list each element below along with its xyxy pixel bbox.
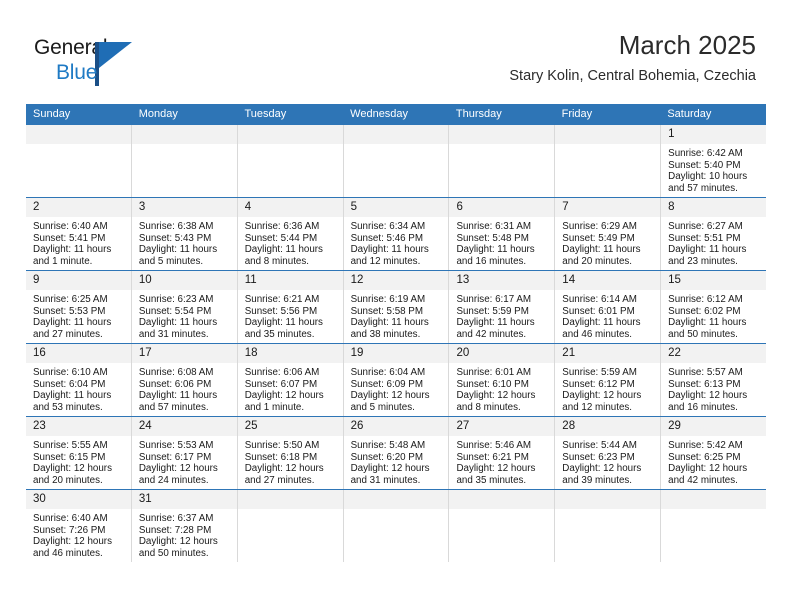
day-number: 27 bbox=[449, 417, 554, 436]
day-detail-line: and 24 minutes. bbox=[139, 475, 232, 487]
day-detail-line: and 35 minutes. bbox=[245, 329, 338, 341]
day-details: Sunrise: 6:29 AMSunset: 5:49 PMDaylight:… bbox=[555, 217, 660, 267]
day-details: Sunrise: 6:14 AMSunset: 6:01 PMDaylight:… bbox=[555, 290, 660, 340]
day-detail-line: Daylight: 11 hours bbox=[139, 390, 232, 402]
week-cells: 1Sunrise: 6:42 AMSunset: 5:40 PMDaylight… bbox=[26, 125, 766, 197]
day-number: 9 bbox=[26, 271, 131, 290]
day-detail-line: Sunrise: 6:40 AM bbox=[33, 513, 126, 525]
day-detail-line: Sunset: 5:56 PM bbox=[245, 306, 338, 318]
day-detail-line: and 35 minutes. bbox=[456, 475, 549, 487]
day-details bbox=[449, 509, 554, 513]
day-detail-line: and 42 minutes. bbox=[668, 475, 761, 487]
brand-name-blue: Blue bbox=[56, 61, 97, 85]
day-detail-line: and 23 minutes. bbox=[668, 256, 761, 268]
day-number-strip bbox=[449, 125, 554, 144]
day-detail-line: Sunset: 5:53 PM bbox=[33, 306, 126, 318]
day-detail-line: Daylight: 11 hours bbox=[456, 244, 549, 256]
day-detail-line: Sunset: 5:59 PM bbox=[456, 306, 549, 318]
day-detail-line: Sunrise: 6:17 AM bbox=[456, 294, 549, 306]
day-cell-empty bbox=[343, 125, 449, 197]
day-detail-line: and 46 minutes. bbox=[33, 548, 126, 560]
day-cell-empty bbox=[660, 490, 766, 562]
day-cell[interactable]: 29Sunrise: 5:42 AMSunset: 6:25 PMDayligh… bbox=[660, 417, 766, 489]
day-detail-line: Daylight: 11 hours bbox=[245, 244, 338, 256]
day-cell[interactable]: 27Sunrise: 5:46 AMSunset: 6:21 PMDayligh… bbox=[448, 417, 554, 489]
day-details: Sunrise: 6:21 AMSunset: 5:56 PMDaylight:… bbox=[238, 290, 343, 340]
day-details: Sunrise: 6:12 AMSunset: 6:02 PMDaylight:… bbox=[661, 290, 766, 340]
day-detail-line: and 31 minutes. bbox=[139, 329, 232, 341]
day-details: Sunrise: 5:55 AMSunset: 6:15 PMDaylight:… bbox=[26, 436, 131, 486]
day-number-strip: 18 bbox=[238, 344, 343, 363]
weekday-header-wednesday: Wednesday bbox=[343, 104, 449, 125]
day-detail-line: and 16 minutes. bbox=[668, 402, 761, 414]
day-detail-line: and 31 minutes. bbox=[351, 475, 444, 487]
day-detail-line: Daylight: 11 hours bbox=[351, 244, 444, 256]
calendar-week-row: 2Sunrise: 6:40 AMSunset: 5:41 PMDaylight… bbox=[26, 197, 766, 270]
day-number-strip: 12 bbox=[344, 271, 449, 290]
day-number-strip bbox=[238, 490, 343, 509]
day-number: 15 bbox=[661, 271, 766, 290]
page-subtitle: Stary Kolin, Central Bohemia, Czechia bbox=[509, 68, 756, 85]
day-detail-line: Sunrise: 6:23 AM bbox=[139, 294, 232, 306]
day-detail-line: Sunset: 6:07 PM bbox=[245, 379, 338, 391]
day-detail-line: Sunrise: 6:21 AM bbox=[245, 294, 338, 306]
day-detail-line: and 50 minutes. bbox=[139, 548, 232, 560]
day-detail-line: Sunset: 5:41 PM bbox=[33, 233, 126, 245]
day-cell[interactable]: 19Sunrise: 6:04 AMSunset: 6:09 PMDayligh… bbox=[343, 344, 449, 416]
day-details: Sunrise: 6:06 AMSunset: 6:07 PMDaylight:… bbox=[238, 363, 343, 413]
calendar-week-row: 1Sunrise: 6:42 AMSunset: 5:40 PMDaylight… bbox=[26, 125, 766, 197]
day-number-strip: 30 bbox=[26, 490, 131, 509]
day-cell[interactable]: 25Sunrise: 5:50 AMSunset: 6:18 PMDayligh… bbox=[237, 417, 343, 489]
day-cell[interactable]: 13Sunrise: 6:17 AMSunset: 5:59 PMDayligh… bbox=[448, 271, 554, 343]
day-number: 12 bbox=[344, 271, 449, 290]
day-details: Sunrise: 6:04 AMSunset: 6:09 PMDaylight:… bbox=[344, 363, 449, 413]
day-details: Sunrise: 6:36 AMSunset: 5:44 PMDaylight:… bbox=[238, 217, 343, 267]
day-details: Sunrise: 6:19 AMSunset: 5:58 PMDaylight:… bbox=[344, 290, 449, 340]
day-number: 4 bbox=[238, 198, 343, 217]
weekday-header-sunday: Sunday bbox=[26, 104, 132, 125]
day-cell[interactable]: 1Sunrise: 6:42 AMSunset: 5:40 PMDaylight… bbox=[660, 125, 766, 197]
day-detail-line: Daylight: 12 hours bbox=[33, 463, 126, 475]
day-detail-line: Sunset: 6:23 PM bbox=[562, 452, 655, 464]
day-detail-line: and 50 minutes. bbox=[668, 329, 761, 341]
day-detail-line: Sunset: 6:20 PM bbox=[351, 452, 444, 464]
day-detail-line: and 20 minutes. bbox=[562, 256, 655, 268]
day-detail-line: Sunset: 7:28 PM bbox=[139, 525, 232, 537]
day-details: Sunrise: 6:10 AMSunset: 6:04 PMDaylight:… bbox=[26, 363, 131, 413]
calendar-week-row: 9Sunrise: 6:25 AMSunset: 5:53 PMDaylight… bbox=[26, 270, 766, 343]
day-detail-line: Daylight: 11 hours bbox=[33, 390, 126, 402]
day-number-strip: 16 bbox=[26, 344, 131, 363]
day-detail-line: Sunrise: 5:57 AM bbox=[668, 367, 761, 379]
weekday-header-saturday: Saturday bbox=[660, 104, 766, 125]
day-number-strip bbox=[661, 490, 766, 509]
day-details: Sunrise: 6:40 AMSunset: 5:41 PMDaylight:… bbox=[26, 217, 131, 267]
day-detail-line: and 12 minutes. bbox=[562, 402, 655, 414]
day-detail-line: and 20 minutes. bbox=[33, 475, 126, 487]
day-detail-line: Daylight: 11 hours bbox=[562, 244, 655, 256]
day-cell[interactable]: 11Sunrise: 6:21 AMSunset: 5:56 PMDayligh… bbox=[237, 271, 343, 343]
triangle-logo-icon bbox=[99, 42, 132, 68]
day-detail-line: and 42 minutes. bbox=[456, 329, 549, 341]
day-number-strip: 26 bbox=[344, 417, 449, 436]
day-detail-line: Daylight: 11 hours bbox=[456, 317, 549, 329]
day-detail-line: Sunrise: 5:48 AM bbox=[351, 440, 444, 452]
calendar-week-row: 16Sunrise: 6:10 AMSunset: 6:04 PMDayligh… bbox=[26, 343, 766, 416]
day-cell[interactable]: 22Sunrise: 5:57 AMSunset: 6:13 PMDayligh… bbox=[660, 344, 766, 416]
day-cell[interactable]: 24Sunrise: 5:53 AMSunset: 6:17 PMDayligh… bbox=[131, 417, 237, 489]
day-detail-line: Daylight: 12 hours bbox=[456, 463, 549, 475]
day-detail-line: Sunset: 5:43 PM bbox=[139, 233, 232, 245]
day-cell-empty bbox=[237, 490, 343, 562]
day-number-strip bbox=[555, 490, 660, 509]
day-detail-line: Sunrise: 6:25 AM bbox=[33, 294, 126, 306]
day-detail-line: and 38 minutes. bbox=[351, 329, 444, 341]
day-detail-line: and 1 minute. bbox=[245, 402, 338, 414]
day-cell[interactable]: 28Sunrise: 5:44 AMSunset: 6:23 PMDayligh… bbox=[554, 417, 660, 489]
day-details bbox=[449, 144, 554, 148]
day-number: 25 bbox=[238, 417, 343, 436]
page-header: General Blue March 2025 Stary Kolin, Cen… bbox=[0, 0, 792, 104]
day-number-strip bbox=[238, 125, 343, 144]
day-detail-line: Sunrise: 5:59 AM bbox=[562, 367, 655, 379]
day-detail-line: Daylight: 12 hours bbox=[351, 390, 444, 402]
day-detail-line: Daylight: 10 hours bbox=[668, 171, 761, 183]
week-cells: 23Sunrise: 5:55 AMSunset: 6:15 PMDayligh… bbox=[26, 417, 766, 489]
calendar-grid: SundayMondayTuesdayWednesdayThursdayFrid… bbox=[26, 104, 766, 562]
day-cell[interactable]: 18Sunrise: 6:06 AMSunset: 6:07 PMDayligh… bbox=[237, 344, 343, 416]
day-detail-line: Daylight: 12 hours bbox=[456, 390, 549, 402]
day-number: 18 bbox=[238, 344, 343, 363]
day-detail-line: Sunset: 6:02 PM bbox=[668, 306, 761, 318]
day-details: Sunrise: 6:38 AMSunset: 5:43 PMDaylight:… bbox=[132, 217, 237, 267]
day-detail-line: Sunset: 6:13 PM bbox=[668, 379, 761, 391]
day-detail-line: Daylight: 11 hours bbox=[33, 244, 126, 256]
day-detail-line: Sunrise: 6:01 AM bbox=[456, 367, 549, 379]
day-detail-line: Daylight: 12 hours bbox=[351, 463, 444, 475]
day-detail-line: Sunset: 6:17 PM bbox=[139, 452, 232, 464]
day-number: 1 bbox=[661, 125, 766, 144]
day-detail-line: Daylight: 11 hours bbox=[245, 317, 338, 329]
day-cell-empty bbox=[554, 490, 660, 562]
day-detail-line: and 46 minutes. bbox=[562, 329, 655, 341]
day-detail-line: Sunrise: 5:50 AM bbox=[245, 440, 338, 452]
day-detail-line: Sunrise: 6:38 AM bbox=[139, 221, 232, 233]
day-number-strip: 15 bbox=[661, 271, 766, 290]
day-detail-line: and 27 minutes. bbox=[245, 475, 338, 487]
day-detail-line: Sunset: 5:48 PM bbox=[456, 233, 549, 245]
day-detail-line: Sunrise: 6:27 AM bbox=[668, 221, 761, 233]
day-number-strip: 20 bbox=[449, 344, 554, 363]
day-cell[interactable]: 21Sunrise: 5:59 AMSunset: 6:12 PMDayligh… bbox=[554, 344, 660, 416]
day-detail-line: Sunset: 6:15 PM bbox=[33, 452, 126, 464]
day-cell[interactable]: 23Sunrise: 5:55 AMSunset: 6:15 PMDayligh… bbox=[26, 417, 131, 489]
day-detail-line: Sunrise: 6:42 AM bbox=[668, 148, 761, 160]
day-cell[interactable]: 3Sunrise: 6:38 AMSunset: 5:43 PMDaylight… bbox=[131, 198, 237, 270]
day-detail-line: Daylight: 12 hours bbox=[245, 390, 338, 402]
day-detail-line: Daylight: 12 hours bbox=[668, 463, 761, 475]
day-detail-line: and 12 minutes. bbox=[351, 256, 444, 268]
day-number-strip: 22 bbox=[661, 344, 766, 363]
day-number-strip: 14 bbox=[555, 271, 660, 290]
day-cell-empty bbox=[554, 125, 660, 197]
weekday-header-thursday: Thursday bbox=[449, 104, 555, 125]
day-detail-line: Daylight: 12 hours bbox=[33, 536, 126, 548]
day-detail-line: and 57 minutes. bbox=[668, 183, 761, 195]
day-detail-line: and 8 minutes. bbox=[456, 402, 549, 414]
calendar-week-row: 23Sunrise: 5:55 AMSunset: 6:15 PMDayligh… bbox=[26, 416, 766, 489]
day-detail-line: Sunset: 6:04 PM bbox=[33, 379, 126, 391]
day-number-strip: 9 bbox=[26, 271, 131, 290]
day-number: 14 bbox=[555, 271, 660, 290]
day-details: Sunrise: 6:34 AMSunset: 5:46 PMDaylight:… bbox=[344, 217, 449, 267]
day-detail-line: Daylight: 11 hours bbox=[139, 317, 232, 329]
day-number: 31 bbox=[132, 490, 237, 509]
day-detail-line: Sunrise: 5:55 AM bbox=[33, 440, 126, 452]
day-details bbox=[26, 144, 131, 148]
day-number-strip: 8 bbox=[661, 198, 766, 217]
day-cell[interactable]: 30Sunrise: 6:40 AMSunset: 7:26 PMDayligh… bbox=[26, 490, 131, 562]
day-details: Sunrise: 5:46 AMSunset: 6:21 PMDaylight:… bbox=[449, 436, 554, 486]
day-cell[interactable]: 26Sunrise: 5:48 AMSunset: 6:20 PMDayligh… bbox=[343, 417, 449, 489]
week-cells: 9Sunrise: 6:25 AMSunset: 5:53 PMDaylight… bbox=[26, 271, 766, 343]
day-details bbox=[238, 509, 343, 513]
day-number-strip bbox=[132, 125, 237, 144]
day-detail-line: Sunset: 6:12 PM bbox=[562, 379, 655, 391]
day-details bbox=[344, 509, 449, 513]
day-detail-line: Daylight: 12 hours bbox=[139, 536, 232, 548]
day-number-strip: 23 bbox=[26, 417, 131, 436]
day-detail-line: Daylight: 11 hours bbox=[562, 317, 655, 329]
day-cell[interactable]: 31Sunrise: 6:37 AMSunset: 7:28 PMDayligh… bbox=[131, 490, 237, 562]
day-number-strip bbox=[26, 125, 131, 144]
day-details: Sunrise: 5:59 AMSunset: 6:12 PMDaylight:… bbox=[555, 363, 660, 413]
day-details bbox=[344, 144, 449, 148]
day-number-strip: 3 bbox=[132, 198, 237, 217]
day-details: Sunrise: 5:42 AMSunset: 6:25 PMDaylight:… bbox=[661, 436, 766, 486]
page-title: March 2025 bbox=[509, 30, 756, 60]
day-number-strip: 6 bbox=[449, 198, 554, 217]
day-cell[interactable]: 8Sunrise: 6:27 AMSunset: 5:51 PMDaylight… bbox=[660, 198, 766, 270]
day-details: Sunrise: 6:27 AMSunset: 5:51 PMDaylight:… bbox=[661, 217, 766, 267]
day-detail-line: Sunrise: 6:34 AM bbox=[351, 221, 444, 233]
day-detail-line: Daylight: 11 hours bbox=[33, 317, 126, 329]
day-detail-line: Sunset: 5:51 PM bbox=[668, 233, 761, 245]
day-number-strip: 4 bbox=[238, 198, 343, 217]
day-number: 17 bbox=[132, 344, 237, 363]
day-detail-line: Sunset: 6:10 PM bbox=[456, 379, 549, 391]
day-detail-line: and 5 minutes. bbox=[139, 256, 232, 268]
brand-logo[interactable]: General Blue bbox=[34, 36, 154, 90]
day-number: 2 bbox=[26, 198, 131, 217]
day-number-strip: 17 bbox=[132, 344, 237, 363]
day-details: Sunrise: 6:31 AMSunset: 5:48 PMDaylight:… bbox=[449, 217, 554, 267]
day-cell[interactable]: 14Sunrise: 6:14 AMSunset: 6:01 PMDayligh… bbox=[554, 271, 660, 343]
day-number: 7 bbox=[555, 198, 660, 217]
day-detail-line: Sunrise: 6:36 AM bbox=[245, 221, 338, 233]
day-detail-line: Sunrise: 5:44 AM bbox=[562, 440, 655, 452]
day-detail-line: Daylight: 12 hours bbox=[562, 390, 655, 402]
day-detail-line: Sunrise: 6:14 AM bbox=[562, 294, 655, 306]
day-cell[interactable]: 20Sunrise: 6:01 AMSunset: 6:10 PMDayligh… bbox=[448, 344, 554, 416]
day-detail-line: Sunset: 5:40 PM bbox=[668, 160, 761, 172]
day-details: Sunrise: 5:50 AMSunset: 6:18 PMDaylight:… bbox=[238, 436, 343, 486]
weekday-header-row: SundayMondayTuesdayWednesdayThursdayFrid… bbox=[26, 104, 766, 125]
day-detail-line: Sunrise: 6:40 AM bbox=[33, 221, 126, 233]
day-detail-line: Sunset: 5:46 PM bbox=[351, 233, 444, 245]
day-cell[interactable]: 10Sunrise: 6:23 AMSunset: 5:54 PMDayligh… bbox=[131, 271, 237, 343]
day-detail-line: Daylight: 12 hours bbox=[562, 463, 655, 475]
day-details: Sunrise: 6:40 AMSunset: 7:26 PMDaylight:… bbox=[26, 509, 131, 559]
day-number-strip bbox=[449, 490, 554, 509]
day-detail-line: Sunset: 5:54 PM bbox=[139, 306, 232, 318]
day-number: 16 bbox=[26, 344, 131, 363]
day-number: 24 bbox=[132, 417, 237, 436]
day-detail-line: Sunset: 6:25 PM bbox=[668, 452, 761, 464]
day-number: 21 bbox=[555, 344, 660, 363]
day-details: Sunrise: 6:01 AMSunset: 6:10 PMDaylight:… bbox=[449, 363, 554, 413]
day-details bbox=[555, 144, 660, 148]
day-cell[interactable]: 15Sunrise: 6:12 AMSunset: 6:02 PMDayligh… bbox=[660, 271, 766, 343]
day-number-strip: 10 bbox=[132, 271, 237, 290]
day-detail-line: Sunrise: 6:19 AM bbox=[351, 294, 444, 306]
day-details: Sunrise: 5:53 AMSunset: 6:17 PMDaylight:… bbox=[132, 436, 237, 486]
day-cell[interactable]: 16Sunrise: 6:10 AMSunset: 6:04 PMDayligh… bbox=[26, 344, 131, 416]
day-cell[interactable]: 9Sunrise: 6:25 AMSunset: 5:53 PMDaylight… bbox=[26, 271, 131, 343]
day-details bbox=[555, 509, 660, 513]
day-cell[interactable]: 12Sunrise: 6:19 AMSunset: 5:58 PMDayligh… bbox=[343, 271, 449, 343]
day-details: Sunrise: 6:08 AMSunset: 6:06 PMDaylight:… bbox=[132, 363, 237, 413]
day-details: Sunrise: 5:48 AMSunset: 6:20 PMDaylight:… bbox=[344, 436, 449, 486]
day-cell[interactable]: 17Sunrise: 6:08 AMSunset: 6:06 PMDayligh… bbox=[131, 344, 237, 416]
day-detail-line: Sunset: 5:49 PM bbox=[562, 233, 655, 245]
day-detail-line: Sunrise: 5:53 AM bbox=[139, 440, 232, 452]
day-cell[interactable]: 2Sunrise: 6:40 AMSunset: 5:41 PMDaylight… bbox=[26, 198, 131, 270]
day-detail-line: Daylight: 11 hours bbox=[139, 244, 232, 256]
day-number-strip: 21 bbox=[555, 344, 660, 363]
day-detail-line: Sunrise: 6:29 AM bbox=[562, 221, 655, 233]
week-cells: 2Sunrise: 6:40 AMSunset: 5:41 PMDaylight… bbox=[26, 198, 766, 270]
day-number-strip: 7 bbox=[555, 198, 660, 217]
week-cells: 30Sunrise: 6:40 AMSunset: 7:26 PMDayligh… bbox=[26, 490, 766, 562]
day-detail-line: Sunrise: 6:06 AM bbox=[245, 367, 338, 379]
day-detail-line: Daylight: 11 hours bbox=[351, 317, 444, 329]
day-cell-empty bbox=[448, 490, 554, 562]
day-number-strip: 24 bbox=[132, 417, 237, 436]
day-detail-line: and 5 minutes. bbox=[351, 402, 444, 414]
day-detail-line: and 16 minutes. bbox=[456, 256, 549, 268]
day-number-strip: 25 bbox=[238, 417, 343, 436]
day-detail-line: Sunset: 7:26 PM bbox=[33, 525, 126, 537]
day-detail-line: Sunrise: 6:12 AM bbox=[668, 294, 761, 306]
day-detail-line: and 8 minutes. bbox=[245, 256, 338, 268]
day-detail-line: Sunrise: 5:42 AM bbox=[668, 440, 761, 452]
weekday-header-monday: Monday bbox=[132, 104, 238, 125]
day-number: 26 bbox=[344, 417, 449, 436]
day-detail-line: Sunset: 6:01 PM bbox=[562, 306, 655, 318]
day-cell[interactable]: 5Sunrise: 6:34 AMSunset: 5:46 PMDaylight… bbox=[343, 198, 449, 270]
day-detail-line: Daylight: 11 hours bbox=[668, 317, 761, 329]
day-detail-line: and 57 minutes. bbox=[139, 402, 232, 414]
day-cell[interactable]: 7Sunrise: 6:29 AMSunset: 5:49 PMDaylight… bbox=[554, 198, 660, 270]
day-number: 23 bbox=[26, 417, 131, 436]
day-details: Sunrise: 6:37 AMSunset: 7:28 PMDaylight:… bbox=[132, 509, 237, 559]
day-number: 29 bbox=[661, 417, 766, 436]
day-detail-line: Sunset: 6:09 PM bbox=[351, 379, 444, 391]
day-number-strip bbox=[344, 125, 449, 144]
day-cell-empty bbox=[448, 125, 554, 197]
day-details: Sunrise: 6:17 AMSunset: 5:59 PMDaylight:… bbox=[449, 290, 554, 340]
day-details: Sunrise: 6:42 AMSunset: 5:40 PMDaylight:… bbox=[661, 144, 766, 194]
day-detail-line: Sunrise: 6:04 AM bbox=[351, 367, 444, 379]
calendar-page: General Blue March 2025 Stary Kolin, Cen… bbox=[0, 0, 792, 612]
day-cell[interactable]: 4Sunrise: 6:36 AMSunset: 5:44 PMDaylight… bbox=[237, 198, 343, 270]
day-detail-line: Daylight: 12 hours bbox=[245, 463, 338, 475]
day-cell[interactable]: 6Sunrise: 6:31 AMSunset: 5:48 PMDaylight… bbox=[448, 198, 554, 270]
day-detail-line: Sunrise: 6:08 AM bbox=[139, 367, 232, 379]
day-number-strip: 27 bbox=[449, 417, 554, 436]
day-number-strip: 19 bbox=[344, 344, 449, 363]
day-detail-line: and 1 minute. bbox=[33, 256, 126, 268]
weekday-header-tuesday: Tuesday bbox=[237, 104, 343, 125]
day-cell-empty bbox=[26, 125, 131, 197]
day-number: 28 bbox=[555, 417, 660, 436]
day-details bbox=[132, 144, 237, 148]
day-number: 6 bbox=[449, 198, 554, 217]
day-detail-line: Sunset: 5:58 PM bbox=[351, 306, 444, 318]
day-number-strip: 28 bbox=[555, 417, 660, 436]
day-number: 3 bbox=[132, 198, 237, 217]
day-number: 13 bbox=[449, 271, 554, 290]
day-detail-line: Sunset: 6:06 PM bbox=[139, 379, 232, 391]
day-number-strip: 13 bbox=[449, 271, 554, 290]
day-details: Sunrise: 5:44 AMSunset: 6:23 PMDaylight:… bbox=[555, 436, 660, 486]
day-detail-line: and 53 minutes. bbox=[33, 402, 126, 414]
day-details bbox=[661, 509, 766, 513]
day-detail-line: Sunset: 6:21 PM bbox=[456, 452, 549, 464]
day-details: Sunrise: 5:57 AMSunset: 6:13 PMDaylight:… bbox=[661, 363, 766, 413]
week-cells: 16Sunrise: 6:10 AMSunset: 6:04 PMDayligh… bbox=[26, 344, 766, 416]
day-number-strip: 5 bbox=[344, 198, 449, 217]
day-number-strip bbox=[344, 490, 449, 509]
day-number-strip: 31 bbox=[132, 490, 237, 509]
day-number-strip: 2 bbox=[26, 198, 131, 217]
calendar-weeks: 1Sunrise: 6:42 AMSunset: 5:40 PMDaylight… bbox=[26, 125, 766, 562]
day-detail-line: Daylight: 12 hours bbox=[139, 463, 232, 475]
day-detail-line: Daylight: 11 hours bbox=[668, 244, 761, 256]
day-detail-line: Sunrise: 6:10 AM bbox=[33, 367, 126, 379]
day-number: 30 bbox=[26, 490, 131, 509]
day-cell-empty bbox=[237, 125, 343, 197]
day-details: Sunrise: 6:25 AMSunset: 5:53 PMDaylight:… bbox=[26, 290, 131, 340]
day-number: 10 bbox=[132, 271, 237, 290]
day-details bbox=[238, 144, 343, 148]
weekday-header-friday: Friday bbox=[555, 104, 661, 125]
day-number: 20 bbox=[449, 344, 554, 363]
day-number: 8 bbox=[661, 198, 766, 217]
day-number: 5 bbox=[344, 198, 449, 217]
day-cell-empty bbox=[131, 125, 237, 197]
day-detail-line: Sunset: 6:18 PM bbox=[245, 452, 338, 464]
title-block: March 2025 Stary Kolin, Central Bohemia,… bbox=[509, 30, 756, 85]
day-number-strip: 1 bbox=[661, 125, 766, 144]
day-detail-line: Sunrise: 6:31 AM bbox=[456, 221, 549, 233]
day-detail-line: Sunrise: 6:37 AM bbox=[139, 513, 232, 525]
day-number-strip bbox=[555, 125, 660, 144]
calendar-week-row: 30Sunrise: 6:40 AMSunset: 7:26 PMDayligh… bbox=[26, 489, 766, 562]
day-number: 11 bbox=[238, 271, 343, 290]
